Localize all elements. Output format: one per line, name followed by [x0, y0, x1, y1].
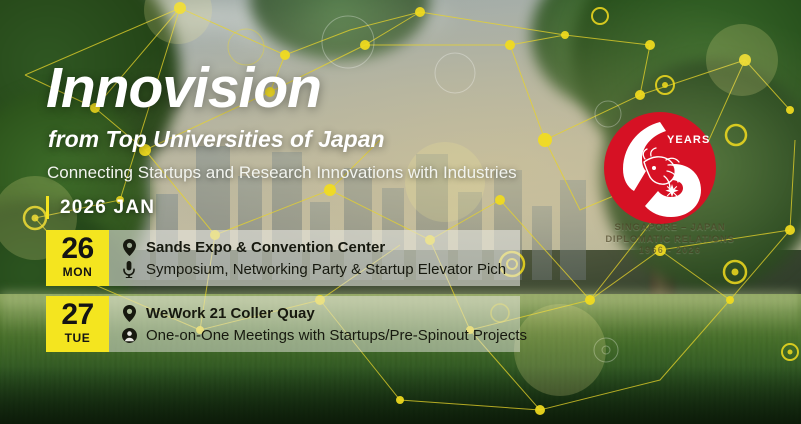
event-details-panel: Sands Expo & Convention Center Symposium… — [109, 230, 520, 286]
event-venue-line: WeWork 21 Coller Quay — [121, 304, 520, 322]
day-number: 27 — [61, 301, 93, 330]
day-weekday: TUE — [65, 331, 91, 345]
event-venue-line: Sands Expo & Convention Center — [121, 238, 520, 256]
microphone-icon — [121, 260, 137, 278]
event-activity-line: One-on-One Meetings with Startups/Pre-Sp… — [121, 326, 520, 344]
map-pin-icon — [121, 304, 137, 322]
merlion-lion-head-icon — [643, 148, 681, 189]
event-banner: Innovision from Top Universities of Japa… — [0, 0, 801, 424]
date-chip: 27 TUE — [46, 296, 109, 352]
event-details-panel: WeWork 21 Coller Quay One-on-One Meeting… — [109, 296, 520, 352]
event-activity-line: Symposium, Networking Party & Startup El… — [121, 260, 520, 278]
date-heading-label: 2026 JAN — [60, 197, 155, 219]
banner-subtitle: from Top Universities of Japan — [48, 126, 385, 153]
date-chip: 26 MON — [46, 230, 109, 286]
anniversary-badge: YEARS — [604, 112, 716, 224]
banner-title: Innovision — [46, 60, 321, 117]
badge-years-label: YEARS — [667, 134, 710, 146]
event-venue-label: WeWork 21 Coller Quay — [146, 305, 315, 322]
badge-caption-line1: SINGAPORE – JAPAN — [595, 222, 745, 234]
accent-bar — [46, 196, 49, 219]
badge-caption: SINGAPORE – JAPAN DIPLOMATIC RELATIONS 1… — [595, 222, 745, 256]
map-pin-icon — [121, 238, 137, 256]
event-activity-label: One-on-One Meetings with Startups/Pre-Sp… — [146, 327, 527, 344]
event-activity-label: Symposium, Networking Party & Startup El… — [146, 261, 506, 278]
person-circle-icon — [121, 326, 137, 344]
date-heading: 2026 JAN — [46, 196, 155, 219]
event-row[interactable]: 26 MON Sands Expo & Convention Center Sy… — [46, 230, 520, 286]
badge-60-artwork — [604, 112, 716, 224]
badge-caption-line2: DIPLOMATIC RELATIONS — [595, 234, 745, 246]
badge-sparkle-icon — [665, 184, 678, 197]
badge-caption-years: 1966 - 2026 — [595, 245, 745, 256]
event-venue-label: Sands Expo & Convention Center — [146, 239, 385, 256]
day-weekday: MON — [63, 265, 93, 279]
event-row[interactable]: 27 TUE WeWork 21 Coller Quay One-on-One … — [46, 296, 520, 352]
banner-tagline: Connecting Startups and Research Innovat… — [47, 163, 517, 183]
day-number: 26 — [61, 235, 93, 264]
